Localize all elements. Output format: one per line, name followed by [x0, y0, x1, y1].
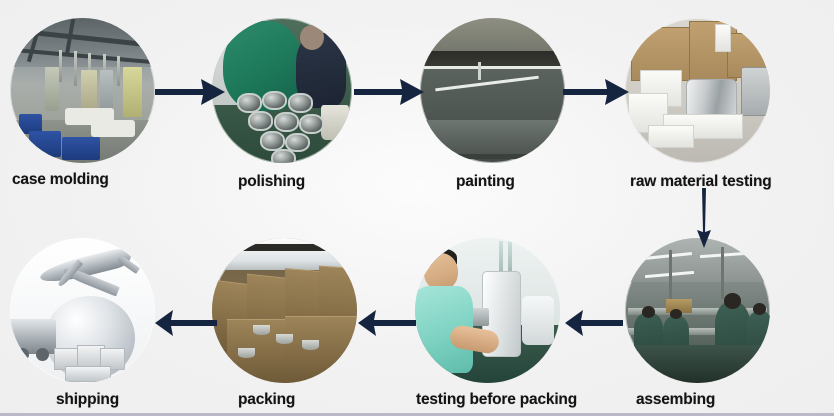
arrow-assembing-to-testing-before-packing [565, 305, 623, 346]
testing-before-packing-photo [415, 238, 560, 383]
painting-photo [420, 18, 565, 163]
arrow-painting-to-raw-material-testing [563, 72, 631, 117]
arrow-raw-material-testing-to-assembing [692, 188, 716, 255]
assembing-photo [625, 238, 770, 383]
arrow-testing-before-packing-to-packing [358, 305, 416, 346]
assembing-label: assembing [636, 392, 715, 408]
shipping-photo [10, 238, 155, 383]
painting-label: painting [456, 174, 515, 190]
polishing-label: polishing [238, 174, 305, 190]
raw-material-testing-photo [625, 18, 770, 163]
polishing-photo [212, 18, 352, 163]
arrow-polishing-to-painting [354, 72, 426, 117]
arrow-case-molding-to-polishing [155, 72, 227, 117]
shipping-label: shipping [56, 392, 119, 408]
arrow-packing-to-shipping [155, 305, 217, 346]
packing-photo [212, 238, 357, 383]
testing-before-packing-label: testing before packing [416, 392, 577, 408]
packing-label: packing [238, 392, 295, 408]
case-molding-photo [10, 18, 155, 163]
process-flow-diagram: case molding [0, 0, 834, 416]
case-molding-label: case molding [12, 172, 109, 188]
